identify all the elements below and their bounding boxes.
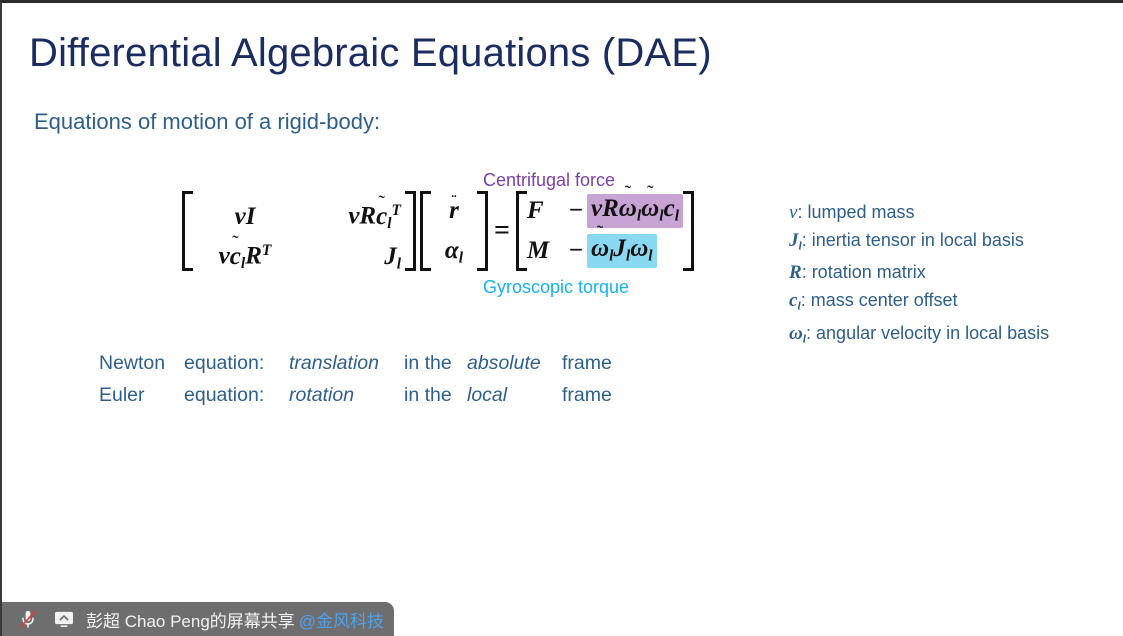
accel-vector-cell-1: ̈r — [431, 191, 477, 231]
mass-matrix: νI νR˜clT ν˜clRT Jl — [193, 191, 405, 271]
newton-frame-kind: absolute — [467, 347, 562, 379]
equals-sign: = — [490, 215, 514, 247]
callout-gyroscopic-torque: Gyroscopic torque — [483, 277, 629, 298]
legend-symbol-omega: ωl — [789, 323, 806, 344]
accel-vector-cell-2: αl — [431, 231, 477, 278]
legend-desc-rotation-matrix: : rotation matrix — [802, 262, 926, 282]
screen-share-bar[interactable]: 彭超 Chao Peng的屏幕共享 @金风科技 — [2, 602, 394, 636]
newton-name: Newton — [99, 347, 184, 379]
equation-descriptions: Newton equation: translation in the abso… — [99, 347, 632, 411]
accel-vector-row-1: ̈r — [431, 191, 477, 231]
euler-frame-word: frame — [562, 379, 632, 411]
legend-symbol-c: cl — [789, 290, 801, 311]
share-org-handle: @金风科技 — [299, 607, 384, 632]
legend-item-angular-velocity: ωl: angular velocity in local basis — [789, 320, 1049, 353]
legend-desc-inertia-tensor: : inertia tensor in local basis — [802, 230, 1024, 250]
newton-eq-word: equation: — [184, 347, 289, 379]
euler-connector: in the — [404, 379, 467, 411]
right-bracket-mass-matrix — [405, 191, 418, 271]
microphone-muted-icon[interactable] — [15, 606, 41, 632]
legend-item-inertia-tensor: Jl: inertia tensor in local basis — [789, 227, 1049, 260]
legend-desc-lumped-mass: : lumped mass — [797, 202, 914, 222]
acceleration-vector: ̈r αl — [431, 191, 477, 271]
rhs-row-2-operator: − — [565, 237, 587, 265]
gyroscopic-torque-term: ˜ωlJlωl — [587, 234, 657, 267]
newton-equation-row: Newton equation: translation in the abso… — [99, 347, 632, 379]
rhs-row-1: F − νR˜ωl˜ωlcl — [527, 191, 683, 231]
mass-matrix-cell-22: Jl — [297, 237, 405, 284]
section-subtitle: Equations of motion of a rigid-body: — [34, 109, 380, 135]
legend-symbol-J: Jl — [789, 230, 802, 251]
legend-item-mass-center-offset: cl: mass center offset — [789, 287, 1049, 320]
equation-row: νI νR˜clT ν˜clRT Jl ̈r αl — [180, 191, 696, 271]
euler-equation-row: Euler equation: rotation in the local fr… — [99, 379, 632, 411]
right-bracket-accel-vector — [477, 191, 490, 271]
rhs-row-2: M − ˜ωlJlωl — [527, 231, 683, 271]
legend-desc-angular-velocity: : angular velocity in local basis — [806, 323, 1049, 343]
rhs-force-label: F — [527, 197, 565, 225]
mass-matrix-row-1: νI νR˜clT — [193, 191, 405, 231]
left-bracket-rhs — [514, 191, 527, 271]
left-bracket-mass-matrix — [180, 191, 193, 271]
legend-symbol-R: R — [789, 262, 802, 283]
screen-share-monitor-icon[interactable] — [51, 606, 77, 632]
right-bracket-rhs — [683, 191, 696, 271]
euler-eq-word: equation: — [184, 379, 289, 411]
accel-vector-row-2: αl — [431, 231, 477, 271]
legend-desc-mass-center-offset: : mass center offset — [801, 290, 958, 310]
mass-matrix-row-2: ν˜clRT Jl — [193, 231, 405, 271]
legend-item-rotation-matrix: R: rotation matrix — [789, 259, 1049, 287]
left-bracket-accel-vector — [418, 191, 431, 271]
legend-item-lumped-mass: ν: lumped mass — [789, 199, 1049, 227]
callout-centrifugal-force: Centrifugal force — [483, 170, 615, 191]
rhs-moment-label: M — [527, 237, 565, 265]
page-title: Differential Algebraic Equations (DAE) — [29, 27, 712, 79]
newton-subject: translation — [289, 347, 404, 379]
euler-name: Euler — [99, 379, 184, 411]
mass-matrix-cell-21: ν˜clRT — [193, 231, 297, 284]
newton-frame-word: frame — [562, 347, 632, 379]
symbol-legend: ν: lumped mass Jl: inertia tensor in loc… — [789, 199, 1049, 352]
rhs-row-1-operator: − — [565, 197, 587, 225]
euler-subject: rotation — [289, 379, 404, 411]
slide-canvas: Differential Algebraic Equations (DAE) E… — [0, 0, 1123, 636]
rhs-vector: F − νR˜ωl˜ωlcl M − ˜ωlJlωl — [527, 191, 683, 271]
euler-frame-kind: local — [467, 379, 562, 411]
equation-of-motion: νI νR˜clT ν˜clRT Jl ̈r αl — [180, 191, 696, 271]
newton-connector: in the — [404, 347, 467, 379]
share-owner-text: 彭超 Chao Peng的屏幕共享 — [86, 607, 295, 632]
